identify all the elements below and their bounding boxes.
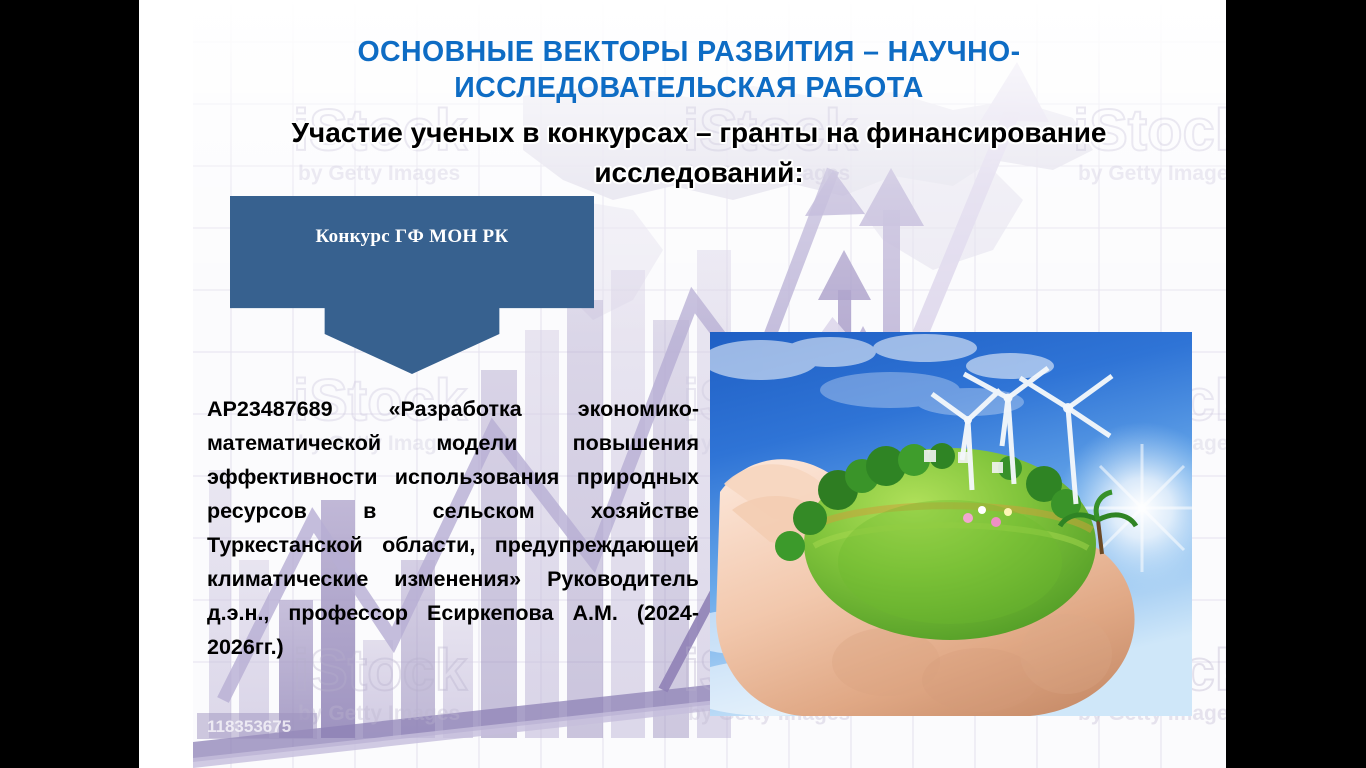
callout-label: Конкурс ГФ МОН РК xyxy=(230,226,594,248)
svg-text:118353675: 118353675 xyxy=(207,717,291,736)
letterbox-left xyxy=(0,0,139,768)
stock-asset-id: 118353675 xyxy=(197,713,317,739)
slide-title: ОСНОВНЫЕ ВЕКТОРЫ РАЗВИТИЯ – НАУЧНО- ИССЛ… xyxy=(259,34,1119,106)
green-earth-photo xyxy=(710,332,1192,716)
grant-description-text: АР23487689 «Разработка экономико-математ… xyxy=(207,392,699,698)
down-arrow-icon xyxy=(230,196,594,374)
screenshot-stage: iStock by Getty Images iStock by Getty I… xyxy=(0,0,1366,768)
down-arrow-callout: Конкурс ГФ МОН РК xyxy=(230,196,594,374)
green-earth-illustration xyxy=(710,332,1192,716)
presentation-slide: iStock by Getty Images iStock by Getty I… xyxy=(139,0,1226,768)
slide-subtitle: Участие ученых в конкурсах – гранты на ф… xyxy=(194,113,1204,193)
letterbox-right xyxy=(1226,0,1366,768)
svg-text:by Getty Images: by Getty Images xyxy=(298,702,460,725)
